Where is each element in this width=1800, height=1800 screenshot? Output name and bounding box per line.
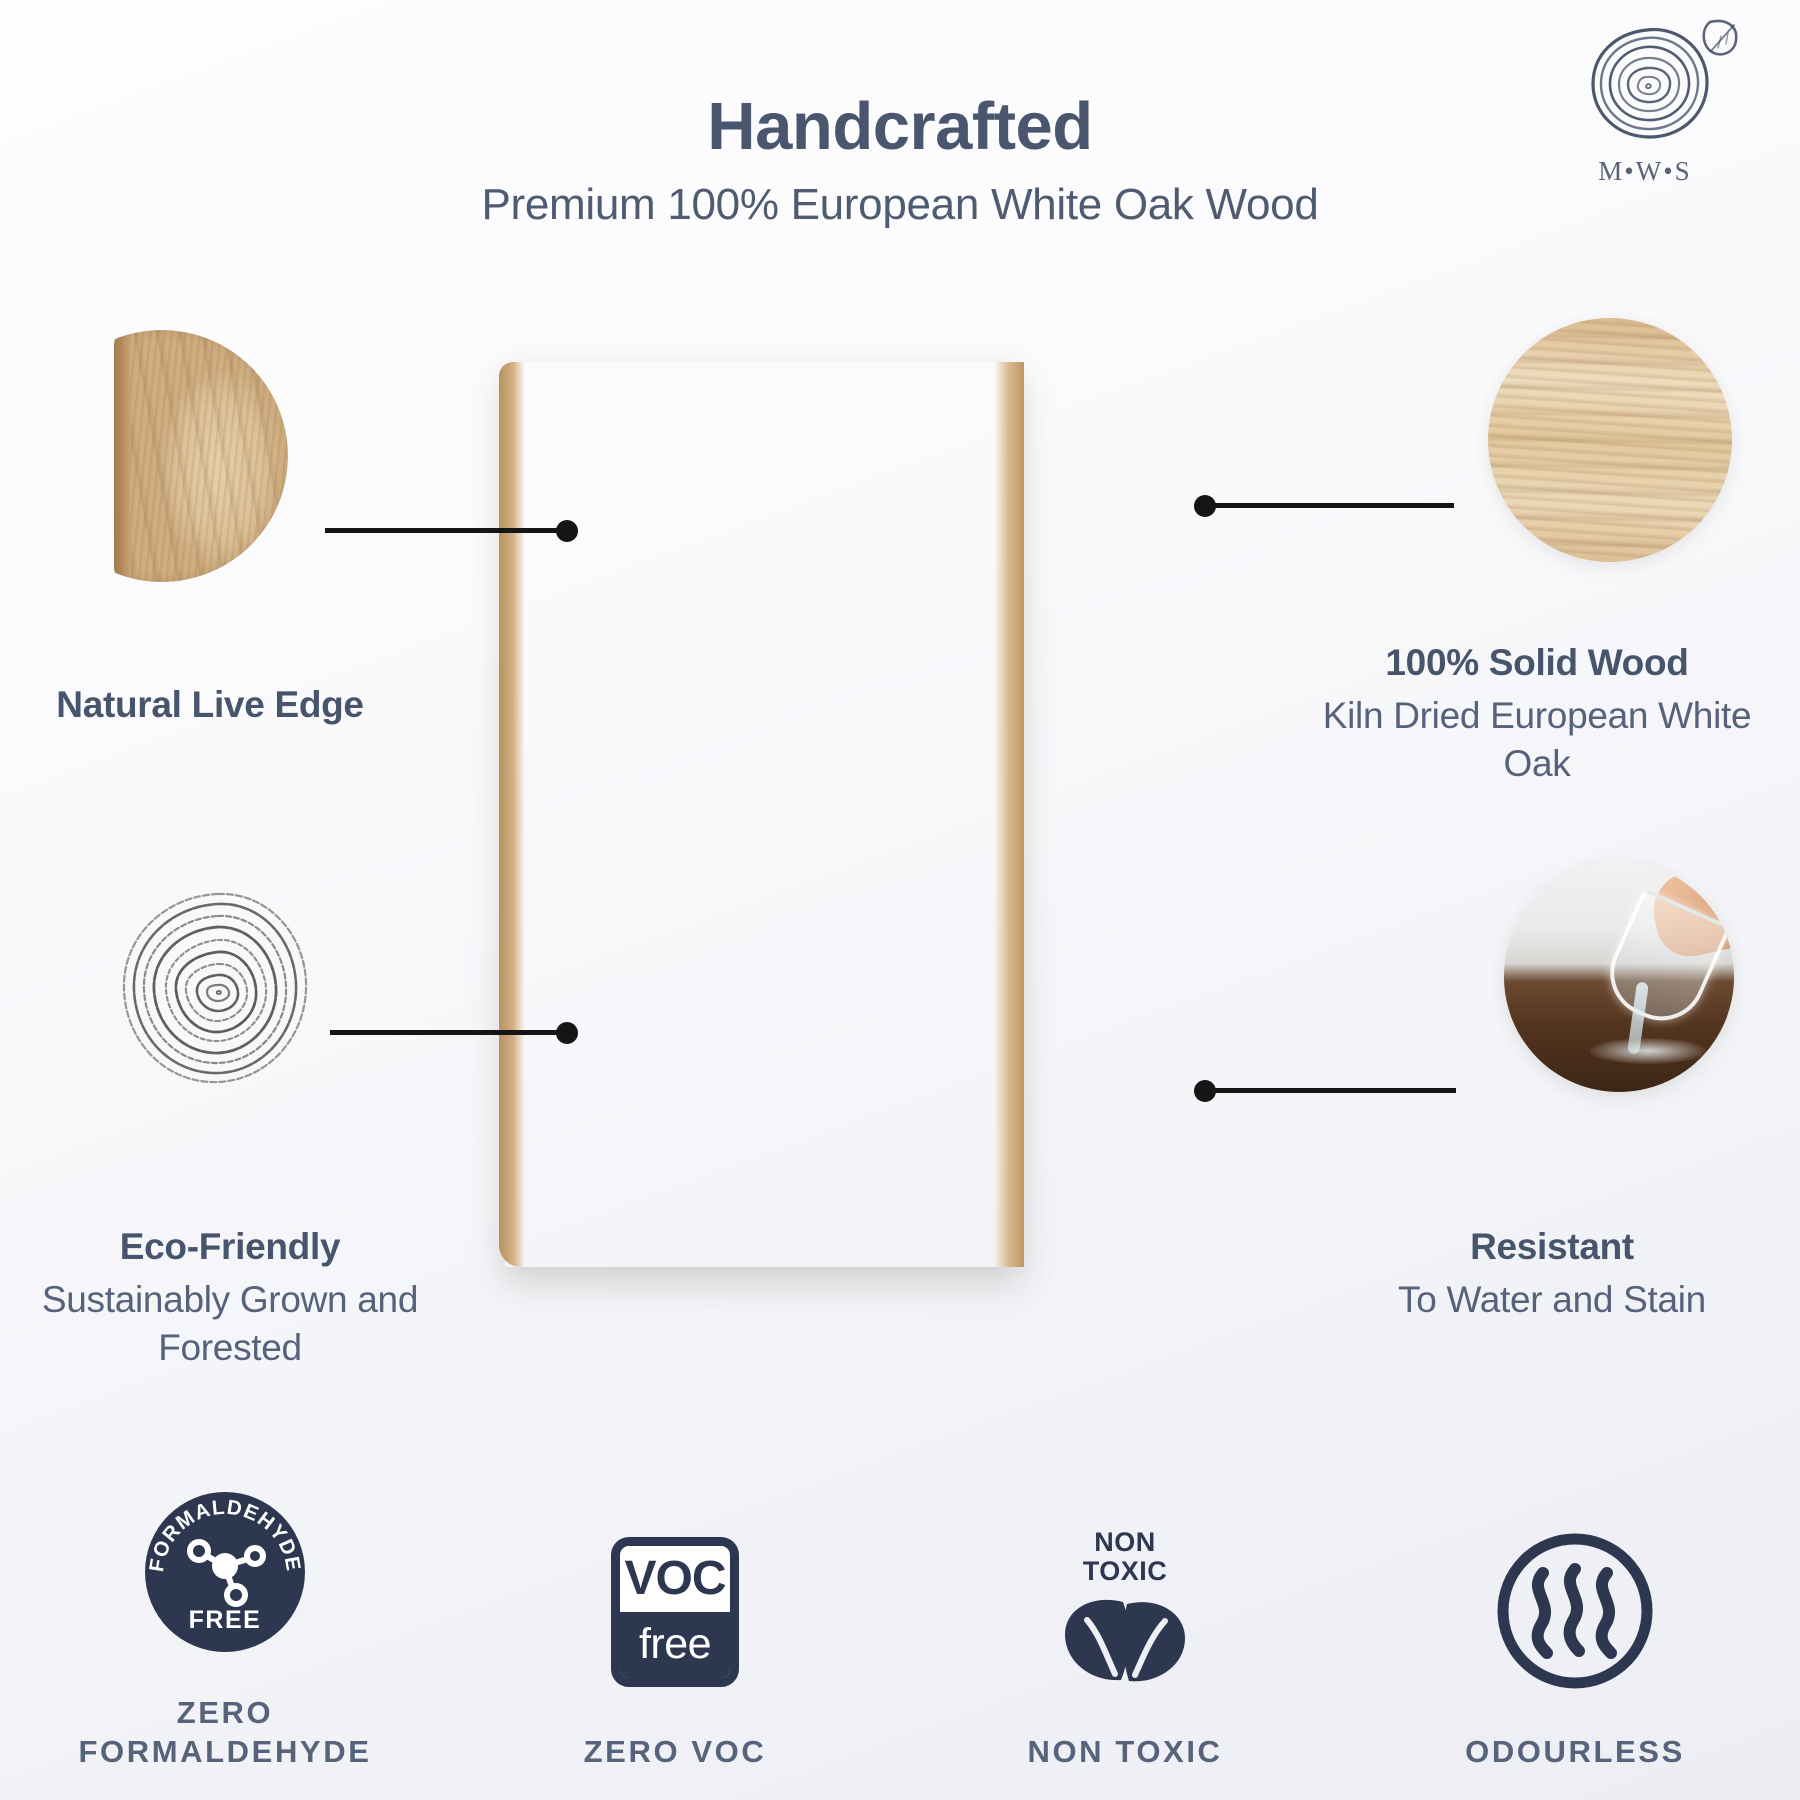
connector-line-resistant — [1206, 1088, 1456, 1093]
badge-label: ZERO FORMALDEHYDE — [35, 1693, 415, 1772]
board-edge-right — [994, 362, 1024, 1267]
header: Handcrafted Premium 100% European White … — [0, 92, 1800, 230]
non-toxic-line1: NON — [1094, 1527, 1156, 1557]
connector-line-solid-wood — [1206, 503, 1454, 508]
badge-icon-wrap — [1385, 1509, 1765, 1714]
feature-title: Eco-Friendly — [10, 1224, 450, 1270]
board-live-edge-left — [499, 362, 525, 1267]
badge-odourless: ODOURLESS — [1385, 1509, 1765, 1772]
badge-label: ZERO VOC — [485, 1732, 865, 1772]
voc-bottom-text: free — [620, 1612, 730, 1678]
feature-solid-wood: 100% Solid Wood Kiln Dried European Whit… — [1302, 640, 1772, 787]
connector-dot-solid-wood — [1194, 495, 1216, 517]
badge-label: ODOURLESS — [1385, 1732, 1765, 1772]
voc-free-box-icon: VOC free — [611, 1537, 739, 1687]
badge-zero-voc: VOC free ZERO VOC — [485, 1509, 865, 1772]
connector-line-eco — [330, 1030, 570, 1035]
tree-rings-drawing — [108, 880, 328, 1100]
badge-icon-wrap: NON TOXIC — [935, 1509, 1315, 1714]
feature-title: Resistant — [1332, 1224, 1772, 1270]
connector-dot-eco — [556, 1022, 578, 1044]
feature-resistant: Resistant To Water and Stain — [1332, 1224, 1772, 1324]
formaldehyde-free-seal-icon: FORMALDEHYDE FREE — [141, 1488, 309, 1656]
board-bottom-edge — [505, 1245, 1020, 1279]
product-board — [505, 362, 1020, 1267]
connector-dot-live-edge — [556, 520, 578, 542]
voc-top-text: VOC — [620, 1546, 730, 1612]
badge-label: NON TOXIC — [935, 1732, 1315, 1772]
feature-eco-friendly: Eco-Friendly Sustainably Grown and Fores… — [10, 1224, 450, 1371]
badge-zero-formaldehyde: FORMALDEHYDE FREE ZERO FORMALDEHYDE — [35, 1470, 415, 1772]
feature-title: 100% Solid Wood — [1302, 640, 1772, 686]
feature-title: Natural Live Edge — [0, 682, 420, 728]
connector-line-live-edge — [325, 528, 570, 533]
certification-badges: FORMALDEHYDE FREE ZERO FORMALDEHYDE VOC … — [0, 1470, 1800, 1772]
page-title: Handcrafted — [0, 92, 1800, 162]
non-toxic-line2: TOXIC — [1083, 1556, 1168, 1586]
water-pool — [1590, 1038, 1706, 1064]
non-toxic-leaves-icon: NON TOXIC — [1035, 1524, 1215, 1699]
live-edge-bark-strip — [114, 334, 130, 578]
page-subtitle: Premium 100% European White Oak Wood — [0, 180, 1800, 230]
tree-rings-icon — [108, 880, 328, 1100]
feature-description: Kiln Dried European White Oak — [1302, 692, 1772, 787]
badge-icon-wrap: VOC free — [485, 1509, 865, 1714]
seal-bottom-text: FREE — [189, 1606, 262, 1634]
odourless-steam-circle-icon — [1493, 1529, 1658, 1694]
feature-natural-live-edge: Natural Live Edge — [0, 682, 420, 728]
board-surface — [505, 362, 1020, 1267]
pouring-water-glass-image — [1504, 862, 1734, 1092]
connector-dot-resistant — [1194, 1080, 1216, 1102]
feature-description: Sustainably Grown and Forested — [10, 1276, 450, 1371]
wood-swatch-image — [1488, 318, 1732, 562]
badge-icon-wrap: FORMALDEHYDE FREE — [35, 1470, 415, 1675]
live-edge-slab-image — [36, 330, 288, 582]
feature-description: To Water and Stain — [1332, 1276, 1772, 1323]
live-edge-wood-face — [118, 330, 288, 582]
badge-non-toxic: NON TOXIC NON TOXIC — [935, 1509, 1315, 1772]
